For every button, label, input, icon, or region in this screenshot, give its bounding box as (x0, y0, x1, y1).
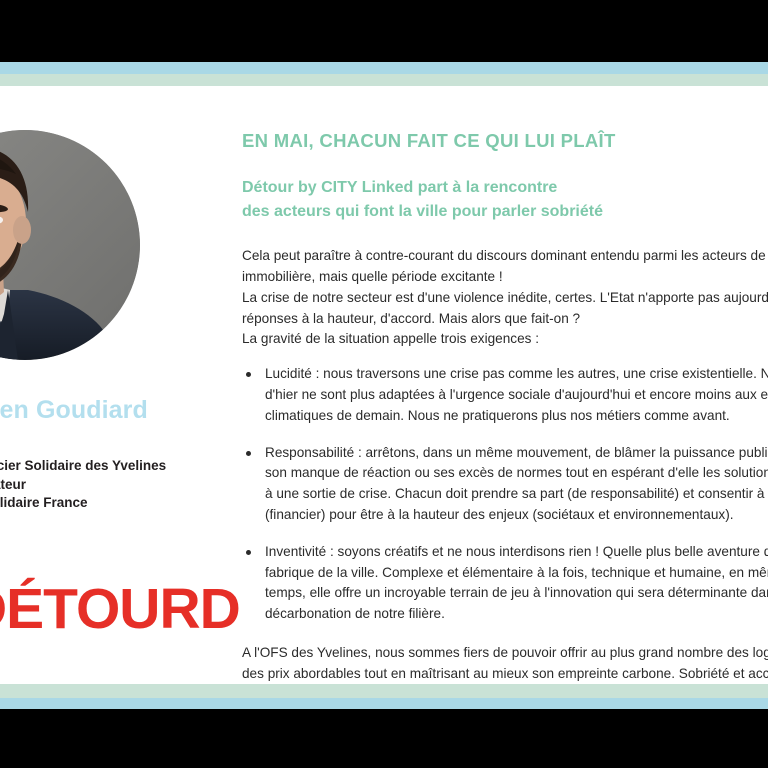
article-subtitle: Détour by CITY Linked part à la rencontr… (242, 176, 768, 223)
bullet-item-lucidite: Lucidité : nous traversons une crise pas… (242, 364, 768, 426)
bullet-1-line-2: d'hier ne sont plus adaptées à l'urgence… (265, 385, 768, 406)
article-body: EN MAI, CHACUN FAIT CE QUI LUI PLAÎT Dét… (242, 130, 768, 684)
bullet-dot-icon (246, 451, 251, 456)
speaker-name: Damien Goudiard (0, 396, 208, 425)
outro-line-2: des prix abordables tout en maîtrisant a… (242, 664, 768, 684)
bullet-dot-icon (246, 372, 251, 377)
slide-canvas: Damien Goudiard Office Foncier Solidaire… (0, 86, 768, 684)
bullet-2-line-2: son manque de réaction ou ses excès de n… (265, 463, 768, 484)
bullet-1-line-3: climatiques de demain. Nous ne pratiquer… (265, 406, 768, 427)
top-blue-band (0, 62, 768, 74)
portrait-image (0, 130, 140, 360)
intro-line-3: La crise de notre secteur est d'une viol… (242, 288, 768, 309)
speaker-role-title: Administrateur (0, 476, 220, 495)
bullet-item-responsabilite: Responsabilité : arrêtons, dans un même … (242, 443, 768, 526)
speaker-roles: Office Foncier Solidaire des Yvelines Ad… (0, 457, 220, 513)
bullet-3-line-4: décarbonation de notre filière. (265, 604, 768, 625)
slide-frame: Damien Goudiard Office Foncier Solidaire… (0, 0, 768, 768)
speaker-role-network: Foncier Solidaire France (0, 494, 220, 513)
top-mint-band (0, 74, 768, 86)
intro-line-2: immobilière, mais quelle période excitan… (242, 267, 768, 288)
bullet-3-line-2: fabrique de la ville. Complexe et élémen… (265, 563, 768, 584)
bullet-3-line-1: Inventivité : soyons créatifs et ne nous… (265, 542, 768, 563)
bottom-blue-band (0, 698, 768, 709)
speaker-portrait (0, 130, 140, 360)
bullet-dot-icon (246, 550, 251, 555)
outro-line-1: A l'OFS des Yvelines, nous sommes fiers … (242, 643, 768, 664)
bottom-black-band (0, 709, 768, 768)
article-subtitle-line-1: Détour by CITY Linked part à la rencontr… (242, 176, 768, 200)
bottom-mint-band (0, 684, 768, 698)
intro-line-5: La gravité de la situation appelle trois… (242, 329, 768, 350)
intro-line-1: Cela peut paraître à contre-courant du d… (242, 246, 768, 267)
bullet-1-line-1: Lucidité : nous traversons une crise pas… (265, 364, 768, 385)
speaker-role-organization: Office Foncier Solidaire des Yvelines (0, 457, 220, 476)
intro-line-4: réponses à la hauteur, d'accord. Mais al… (242, 309, 768, 330)
article-subtitle-line-2: des acteurs qui font la ville pour parle… (242, 200, 768, 224)
top-black-band (0, 0, 768, 62)
brand-logo: DÉTOURD (0, 581, 240, 638)
bullet-2-line-4: (financier) pour être à la hauteur des e… (265, 505, 768, 526)
bullet-item-inventivite: Inventivité : soyons créatifs et ne nous… (242, 542, 768, 625)
article-outro-paragraph: A l'OFS des Yvelines, nous sommes fiers … (242, 643, 768, 684)
bullet-3-line-3: temps, elle offre un incroyable terrain … (265, 583, 768, 604)
article-bullet-list: Lucidité : nous traversons une crise pas… (242, 364, 768, 625)
bullet-2-line-1: Responsabilité : arrêtons, dans un même … (265, 443, 768, 464)
article-title: EN MAI, CHACUN FAIT CE QUI LUI PLAÎT (242, 130, 768, 152)
article-intro-paragraph: Cela peut paraître à contre-courant du d… (242, 246, 768, 350)
bullet-2-line-3: à une sortie de crise. Chacun doit prend… (265, 484, 768, 505)
